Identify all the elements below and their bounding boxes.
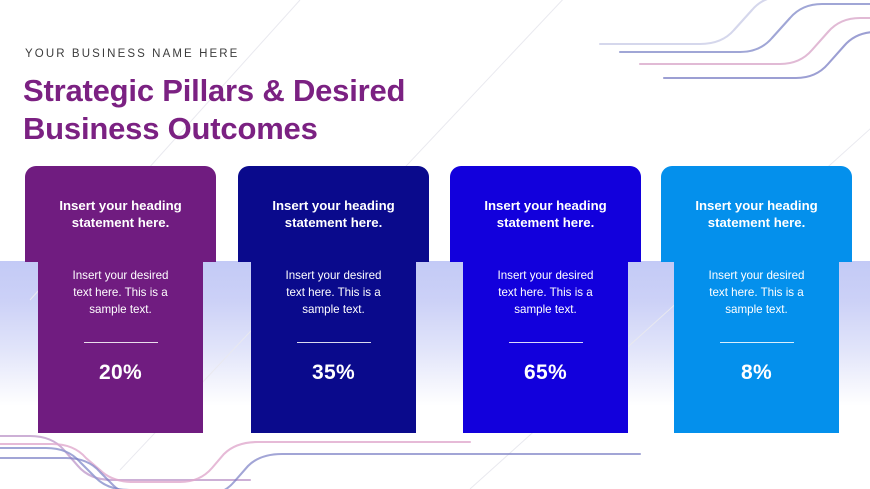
pillar-card-4[interactable]: Insert your heading statement here. Inse…	[661, 166, 852, 433]
card-1-text-line-1: Insert your desired	[72, 269, 168, 282]
card-2-text-line-1: Insert your desired	[285, 269, 381, 282]
card-4-heading: Insert your heading statement here.	[681, 197, 831, 232]
card-4-text-line-3: sample text.	[725, 303, 788, 316]
card-4-heading-line-1: Insert your heading	[695, 198, 817, 213]
card-2-text: Insert your desired text here. This is a…	[269, 268, 397, 318]
card-4-value: 8%	[741, 361, 772, 385]
card-3-heading: Insert your heading statement here.	[470, 197, 620, 232]
card-4-text-line-2: text here. This is a	[709, 286, 804, 299]
card-3-heading-line-1: Insert your heading	[484, 198, 606, 213]
card-4-heading-line-2: statement here.	[708, 215, 805, 230]
card-4-cap: Insert your heading statement here.	[661, 166, 852, 262]
card-1-text-line-3: sample text.	[89, 303, 152, 316]
card-3-heading-line-2: statement here.	[497, 215, 594, 230]
card-1-value: 20%	[99, 361, 142, 385]
card-1-heading-line-2: statement here.	[72, 215, 169, 230]
card-2-divider	[297, 342, 371, 343]
card-1-body: Insert your desired text here. This is a…	[38, 258, 203, 433]
card-3-cap: Insert your heading statement here.	[450, 166, 641, 262]
card-1-text-line-2: text here. This is a	[73, 286, 168, 299]
card-2-text-line-3: sample text.	[302, 303, 365, 316]
pillar-card-group: Insert your heading statement here. Inse…	[0, 0, 870, 489]
card-2-heading-line-1: Insert your heading	[272, 198, 394, 213]
card-3-body: Insert your desired text here. This is a…	[463, 258, 628, 433]
slide-canvas: YOUR BUSINESS NAME HERE Strategic Pillar…	[0, 0, 870, 489]
card-4-body: Insert your desired text here. This is a…	[674, 258, 839, 433]
pillar-card-1[interactable]: Insert your heading statement here. Inse…	[25, 166, 216, 433]
card-4-divider	[720, 342, 794, 343]
card-2-body: Insert your desired text here. This is a…	[251, 258, 416, 433]
card-3-text-line-2: text here. This is a	[498, 286, 593, 299]
card-2-heading-line-2: statement here.	[285, 215, 382, 230]
card-3-value: 65%	[524, 361, 567, 385]
card-3-divider	[509, 342, 583, 343]
card-4-text: Insert your desired text here. This is a…	[692, 268, 820, 318]
card-4-text-line-1: Insert your desired	[708, 269, 804, 282]
card-1-text: Insert your desired text here. This is a…	[56, 268, 184, 318]
card-2-cap: Insert your heading statement here.	[238, 166, 429, 262]
card-3-text-line-3: sample text.	[514, 303, 577, 316]
card-1-heading: Insert your heading statement here.	[45, 197, 195, 232]
card-1-divider	[84, 342, 158, 343]
card-3-text: Insert your desired text here. This is a…	[481, 268, 609, 318]
card-2-text-line-2: text here. This is a	[286, 286, 381, 299]
pillar-card-2[interactable]: Insert your heading statement here. Inse…	[238, 166, 429, 433]
card-3-text-line-1: Insert your desired	[497, 269, 593, 282]
card-1-cap: Insert your heading statement here.	[25, 166, 216, 262]
pillar-card-3[interactable]: Insert your heading statement here. Inse…	[450, 166, 641, 433]
card-2-heading: Insert your heading statement here.	[258, 197, 408, 232]
card-1-heading-line-1: Insert your heading	[59, 198, 181, 213]
card-2-value: 35%	[312, 361, 355, 385]
